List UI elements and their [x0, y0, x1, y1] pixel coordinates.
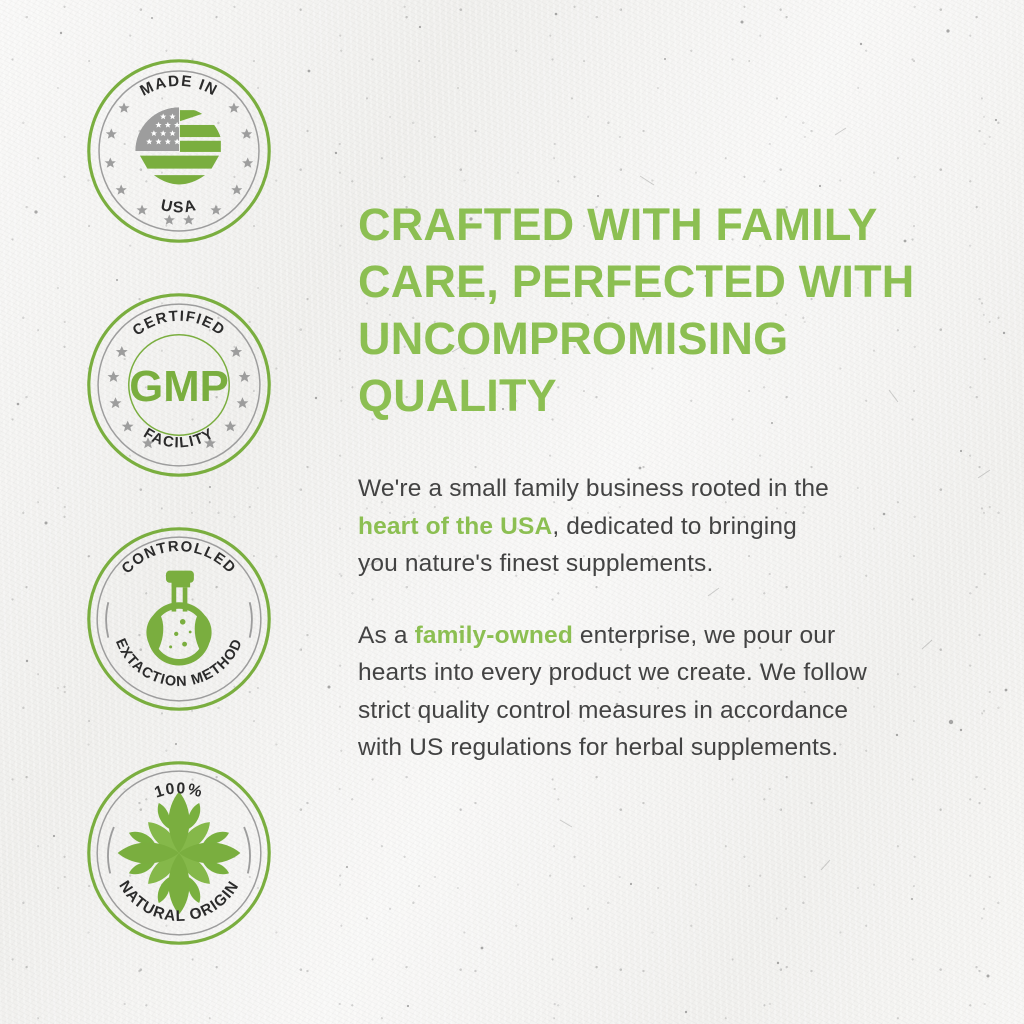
paragraph-2-highlight: family-owned — [415, 622, 573, 649]
flask-with-leaves-icon — [146, 571, 211, 666]
intro-paragraph: We're a small family business rooted in … — [358, 470, 838, 583]
usa-flag-circle-icon — [135, 107, 222, 184]
page-headline: CRAFTED WITH FAMILY CARE, PERFECTED WITH… — [358, 196, 918, 424]
badge-controlled-extraction-method: CONTROLLED EXTACTION METHOD — [86, 526, 272, 712]
paragraph-1-highlight: heart of the USA — [358, 513, 552, 540]
paragraph-2-before: As a — [358, 622, 415, 649]
content-column: CRAFTED WITH FAMILY CARE, PERFECTED WITH… — [358, 196, 918, 767]
badge-bottom-label: USA — [159, 197, 199, 216]
badge-bottom-label: FACILITY — [141, 426, 218, 452]
gmp-text-icon: GMP — [129, 362, 229, 411]
badge-gmp-certified-facility: GMP CERTIFIED FACILITY — [86, 292, 272, 478]
paragraph-1-before: We're a small family business rooted in … — [358, 475, 829, 502]
badge-made-in-usa: MADE IN USA — [86, 58, 272, 244]
badge-natural-origin: 100% NATURAL ORIGIN — [86, 760, 272, 946]
certification-badge-column: MADE IN USA — [86, 58, 286, 994]
quality-paragraph: As a family-owned enterprise, we pour ou… — [358, 617, 883, 767]
